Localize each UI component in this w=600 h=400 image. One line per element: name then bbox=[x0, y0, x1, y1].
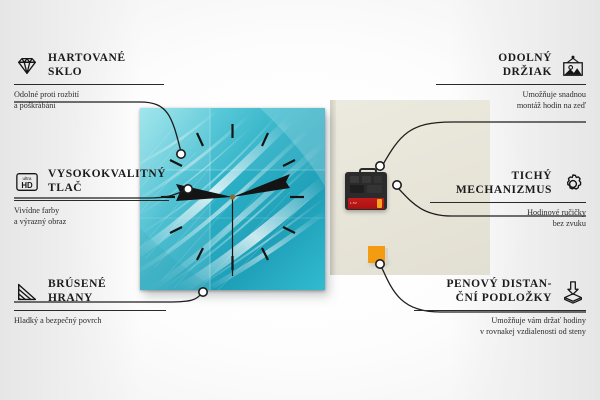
feature-divider bbox=[14, 84, 164, 85]
connector-endpoint-dot bbox=[393, 181, 401, 189]
feature-tempered-glass: HARTOVANÉ SKLO Odolné proti rozbití a po… bbox=[14, 52, 164, 111]
feature-foam-spacers: PENOVÝ DISTAN- ČNÍ PODLOŽKY Umožňuje vám… bbox=[414, 278, 586, 337]
feature-description: Vivídne farby a výrazný obraz bbox=[14, 205, 169, 227]
foam-pad-icon bbox=[560, 280, 586, 304]
feature-header: BRÚSENÉ HRANY bbox=[14, 278, 166, 305]
feature-description: Umožňuje vám držať hodiny v rovnakej vzd… bbox=[414, 315, 586, 337]
connector-right-1 bbox=[381, 122, 586, 168]
connector-endpoint-dot bbox=[199, 288, 207, 296]
diamond-icon bbox=[14, 54, 40, 78]
feature-divider bbox=[430, 202, 586, 203]
feature-title: VYSOKOKVALITNÝ TLAČ bbox=[48, 168, 166, 195]
gear-icon bbox=[560, 172, 586, 196]
feature-header: PENOVÝ DISTAN- ČNÍ PODLOŽKY bbox=[414, 278, 586, 305]
feature-high-quality-print: ultra HD VYSOKOKVALITNÝ TLAČ Vivídne far… bbox=[14, 168, 169, 227]
infographic-canvas: 1.5V bbox=[0, 0, 600, 400]
feature-title: HARTOVANÉ SKLO bbox=[48, 52, 126, 79]
feature-header: ODOLNÝ DRŽIAK bbox=[436, 52, 586, 79]
feature-title: BRÚSENÉ HRANY bbox=[48, 278, 106, 305]
feature-title: ODOLNÝ DRŽIAK bbox=[498, 52, 552, 79]
svg-text:HD: HD bbox=[21, 181, 33, 190]
feature-durable-holder: ODOLNÝ DRŽIAK Umožňuje snadnou montáž ho… bbox=[436, 52, 586, 111]
feature-header: HARTOVANÉ SKLO bbox=[14, 52, 164, 79]
connector-endpoint-dot bbox=[376, 260, 384, 268]
brushed-edges-icon bbox=[14, 280, 40, 304]
picture-hanger-icon bbox=[560, 54, 586, 78]
feature-silent-mechanism: TICHÝ MECHANIZMUS Hodinové ručičky bez z… bbox=[430, 170, 586, 229]
feature-divider bbox=[436, 84, 586, 85]
connector-endpoint-dot bbox=[184, 185, 192, 193]
feature-divider bbox=[14, 200, 169, 201]
feature-title: TICHÝ MECHANIZMUS bbox=[456, 170, 552, 197]
feature-header: ultra HD VYSOKOKVALITNÝ TLAČ bbox=[14, 168, 169, 195]
ultra-hd-icon: ultra HD bbox=[14, 170, 40, 194]
feature-title: PENOVÝ DISTAN- ČNÍ PODLOŽKY bbox=[446, 278, 552, 305]
feature-description: Hodinové ručičky bez zvuku bbox=[430, 207, 586, 229]
feature-description: Odolné proti rozbití a poškrábání bbox=[14, 89, 164, 111]
feature-header: TICHÝ MECHANIZMUS bbox=[430, 170, 586, 197]
feature-description: Umožňuje snadnou montáž hodin na zeď bbox=[436, 89, 586, 111]
feature-polished-edges: BRÚSENÉ HRANY Hladký a bezpečný povrch bbox=[14, 278, 166, 326]
connector-endpoint-dot bbox=[376, 162, 384, 170]
feature-description: Hladký a bezpečný povrch bbox=[14, 315, 166, 326]
connector-endpoint-dot bbox=[177, 150, 185, 158]
feature-divider bbox=[14, 310, 166, 311]
feature-divider bbox=[414, 310, 586, 311]
